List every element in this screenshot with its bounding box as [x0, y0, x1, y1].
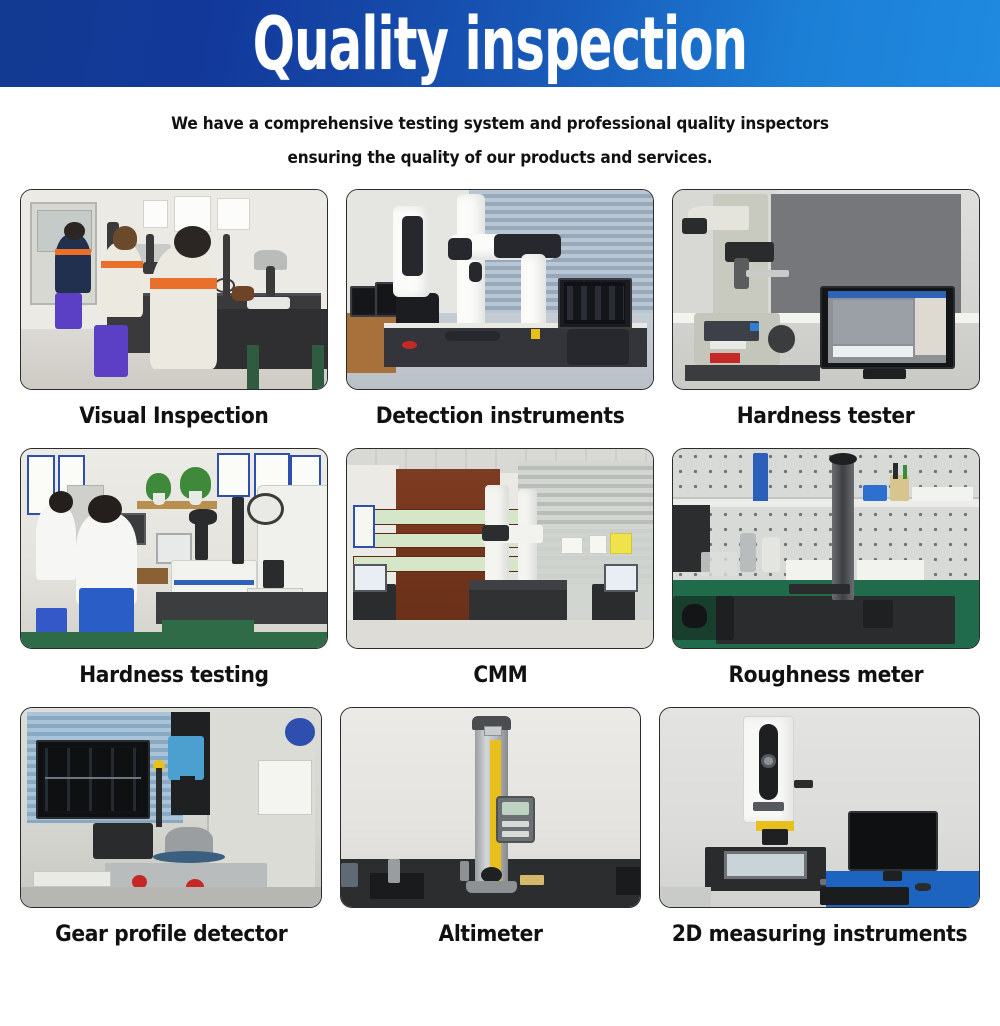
gallery-cell-visual-inspection[interactable]: Visual Inspection: [20, 189, 328, 442]
workstation-monitor: [350, 286, 378, 318]
probe-tip: [180, 776, 195, 794]
probe-arm: [789, 584, 850, 594]
button-row: [502, 821, 529, 827]
gauge-base: [466, 881, 517, 893]
measurement-monitor: [820, 286, 955, 370]
hardness-instrument: [171, 560, 257, 596]
display-unit: [863, 600, 894, 628]
hardness-tester-photo[interactable]: [672, 189, 980, 390]
gallery-caption: Hardness testing: [79, 663, 268, 689]
measuring-head: [168, 736, 204, 780]
focus-knob: [794, 780, 813, 788]
gallery-row: Gear profile detector: [20, 707, 980, 960]
gallery-cell-detection-instruments[interactable]: Detection instruments: [346, 189, 654, 442]
gallery-cell-hardness-testing[interactable]: Hardness testing: [20, 448, 328, 701]
roughness-meter-column: [832, 461, 853, 600]
gear-profile-detector-photo[interactable]: [20, 707, 322, 908]
instrument-stripe: [174, 580, 254, 585]
stereo-microscope-post: [266, 266, 275, 298]
gallery-caption: Detection instruments: [376, 404, 625, 430]
altimeter-photo[interactable]: [340, 707, 642, 908]
gauge-pin: [460, 861, 469, 881]
mouse: [915, 883, 931, 891]
plant-pot: [189, 491, 201, 505]
gauge-stand: [223, 234, 230, 306]
turret: [725, 242, 774, 262]
worker-1-shirt: [36, 505, 76, 581]
worker-2-stool: [94, 325, 128, 377]
bench-leg: [247, 345, 259, 389]
bench-leg: [312, 345, 324, 389]
room-floor: [347, 620, 653, 648]
panel-button: [750, 323, 759, 331]
brand-label: [753, 802, 785, 812]
floor-mat: [21, 632, 327, 648]
workstation-screen: [604, 564, 638, 592]
gauge-stand: [156, 768, 162, 828]
worker-1-head: [64, 222, 85, 240]
pen: [893, 463, 898, 479]
worker-3-coat: [150, 246, 217, 369]
gallery-caption: Altimeter: [438, 922, 542, 948]
wall-notice: [217, 198, 251, 230]
thermos: [740, 533, 755, 573]
lcd-display: [502, 802, 529, 816]
cmm-probe: [469, 262, 481, 282]
inspection-gallery: Visual Inspection: [0, 175, 1000, 1026]
worker-2-head: [113, 226, 137, 250]
subtitle-line-1: We have a comprehensive testing system a…: [109, 107, 890, 141]
button-row: [502, 831, 529, 837]
pen: [903, 465, 908, 479]
detection-instruments-photo[interactable]: [346, 189, 654, 390]
optical-head: [189, 509, 217, 525]
subtitle-block: We have a comprehensive testing system a…: [0, 87, 1000, 175]
gallery-row: Visual Inspection: [20, 189, 980, 442]
monitor-stand: [883, 871, 902, 881]
gallery-cell-altimeter[interactable]: Altimeter: [340, 707, 642, 960]
machine-base: [21, 887, 321, 907]
gallery-row: Hardness testing: [20, 448, 980, 701]
fixture-rail: [445, 331, 500, 341]
gallery-caption: Roughness meter: [729, 663, 924, 689]
microscope-post: [146, 234, 153, 266]
printer-unit: [93, 823, 153, 859]
spray-can: [753, 453, 768, 501]
cmm-photo[interactable]: [346, 448, 654, 649]
gear-profile-monitor: [36, 740, 150, 820]
gallery-caption: Gear profile detector: [55, 922, 287, 948]
gallery-caption: Hardness tester: [737, 404, 915, 430]
quality-inspection-page: Quality inspection We have a comprehensi…: [0, 0, 1000, 1026]
dial-indicator: [247, 493, 284, 525]
cmm-carriage: [482, 525, 510, 541]
cmm-arm-joint: [448, 238, 472, 260]
gauge-pin: [388, 859, 400, 883]
camera-module: [682, 218, 706, 234]
wall-notice: [143, 200, 167, 228]
brand-plate: [484, 726, 502, 736]
gallery-caption: Visual Inspection: [79, 404, 268, 430]
workpiece: [520, 875, 544, 885]
side-shelf: [33, 871, 111, 887]
granite-plate: [716, 596, 955, 644]
worker-1-uniform: [55, 234, 92, 294]
gallery-cell-gear-profile-detector[interactable]: Gear profile detector: [20, 707, 322, 960]
gallery-caption: CMM: [473, 663, 527, 689]
header-banner: Quality inspection: [0, 0, 1000, 87]
roughness-meter-photo[interactable]: [672, 448, 980, 649]
keyboard: [820, 887, 909, 905]
worker-2-jeans: [79, 588, 134, 636]
posted-notice: [561, 537, 582, 555]
monitor-stand: [863, 369, 906, 379]
tester-shaft: [232, 497, 244, 565]
packaged-tools: [701, 552, 738, 576]
process-chart: [258, 760, 312, 816]
certification-sticker: [285, 718, 315, 746]
cmm-tower-panel: [402, 216, 423, 276]
yellow-notice: [610, 533, 631, 555]
column-knob: [829, 453, 857, 465]
specimen-stage: [746, 270, 789, 277]
wall-document: [217, 453, 251, 497]
display-monitor: [848, 811, 937, 871]
gallery-cell-2d-measuring-instruments[interactable]: 2D measuring instruments: [659, 707, 980, 960]
worker-1-stool: [55, 293, 83, 329]
paper-stack: [912, 487, 973, 501]
visual-inspection-photo[interactable]: [20, 189, 328, 390]
cmm-table-top: [469, 580, 567, 590]
posted-notice: [589, 535, 607, 555]
page-title: Quality inspection: [253, 7, 747, 80]
gallery-caption: 2D measuring instruments: [672, 922, 967, 948]
subtitle-line-2: ensuring the quality of our products and…: [109, 141, 890, 175]
mouse-pad: [673, 596, 734, 640]
parts-bin: [863, 485, 887, 501]
worker-3-head: [174, 226, 211, 258]
bench-surface: [685, 365, 820, 381]
worker-2-head: [88, 495, 122, 523]
anvil-post: [263, 560, 284, 588]
paper-sheet: [857, 560, 924, 580]
warning-label: [531, 329, 540, 339]
brand-label: [710, 353, 741, 363]
bench-fixture: [341, 863, 359, 887]
cylinder-part: [762, 537, 780, 573]
handwheel: [768, 325, 796, 353]
glass-stage-plate: [724, 851, 807, 879]
cmm-software-monitor: [558, 278, 631, 330]
camera-housing: [762, 829, 788, 845]
worker-1-head: [49, 491, 73, 513]
cmm-support-leg: [521, 254, 545, 334]
workstation-screen: [353, 564, 387, 592]
equipment-base: [567, 329, 628, 365]
keypad: [710, 341, 747, 349]
bench-edge: [616, 867, 640, 895]
framed-chart: [353, 505, 374, 549]
optical-lens: [761, 754, 777, 768]
plant-pot: [153, 493, 165, 505]
sample-part: [232, 286, 253, 302]
2d-measuring-instruments-photo[interactable]: [659, 707, 980, 908]
bench-surface: [660, 887, 711, 907]
worker-2-coat: [101, 242, 144, 318]
inspection-bench-front: [211, 309, 327, 369]
hardness-testing-photo[interactable]: [20, 448, 328, 649]
stereo-microscope-base: [247, 297, 290, 309]
wall-shelf: [137, 501, 217, 509]
gallery-cell-cmm[interactable]: CMM: [346, 448, 654, 701]
gallery-cell-hardness-tester[interactable]: Hardness tester: [672, 189, 980, 442]
gallery-cell-roughness-meter[interactable]: Roughness meter: [672, 448, 980, 701]
